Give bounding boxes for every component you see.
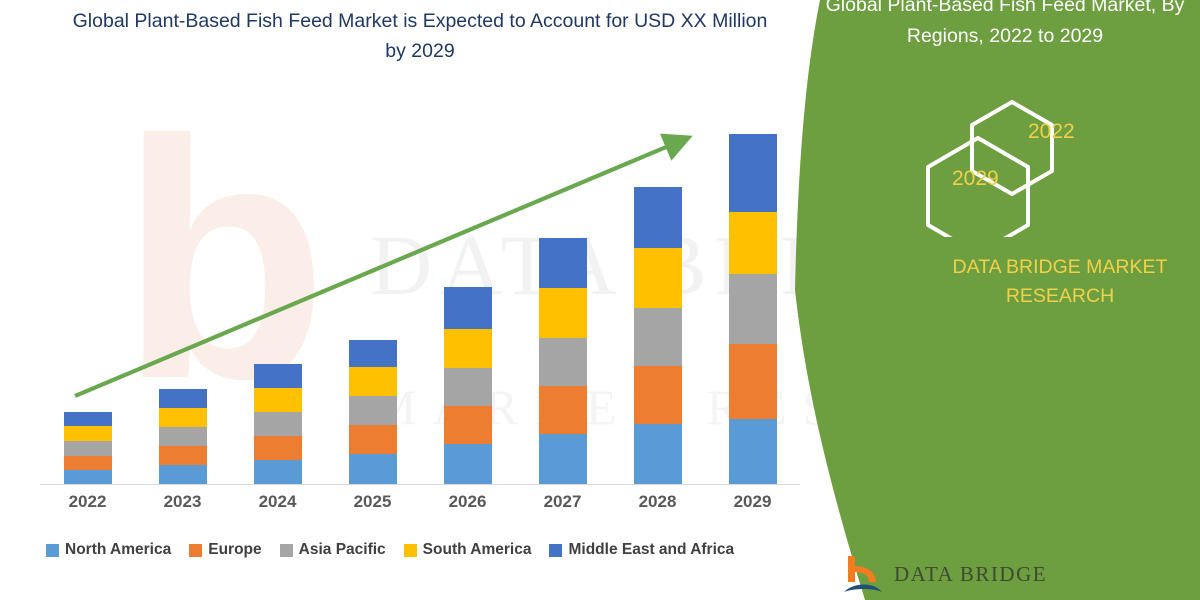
legend-item-north-america[interactable]: North America <box>46 541 171 559</box>
chart-legend: North AmericaEuropeAsia PacificSouth Ame… <box>46 541 734 559</box>
legend-label: Middle East and Africa <box>568 541 734 559</box>
bar-segment-south-america[interactable] <box>349 367 397 396</box>
bar-segment-north-america[interactable] <box>64 470 112 484</box>
bar-segment-middle-east-and-africa[interactable] <box>159 389 207 408</box>
bar-segment-north-america[interactable] <box>539 434 587 484</box>
legend-item-europe[interactable]: Europe <box>189 541 261 559</box>
bar-segment-south-america[interactable] <box>159 408 207 427</box>
bar-segment-middle-east-and-africa[interactable] <box>254 364 302 388</box>
bar-2028[interactable] <box>634 187 682 484</box>
footer-logo-text: DATA BRIDGE <box>894 562 1047 587</box>
bar-segment-north-america[interactable] <box>444 444 492 484</box>
bar-segment-middle-east-and-africa[interactable] <box>539 238 587 288</box>
x-axis-labels: 20222023202420252026202720282029 <box>40 492 800 518</box>
bar-segment-south-america[interactable] <box>634 248 682 308</box>
brand-line-1: DATA BRIDGE MARKET <box>930 253 1190 282</box>
bar-2023[interactable] <box>159 389 207 484</box>
panel-title: Global Plant-Based Fish Feed Market, By … <box>820 0 1190 52</box>
legend-item-asia-pacific[interactable]: Asia Pacific <box>280 541 386 559</box>
bar-segment-asia-pacific[interactable] <box>539 338 587 386</box>
bar-2027[interactable] <box>539 238 587 484</box>
legend-swatch-icon <box>46 544 59 557</box>
bar-segment-south-america[interactable] <box>64 426 112 441</box>
x-axis-label-2028: 2028 <box>613 492 703 512</box>
hexagon-2029-label: 2029 <box>952 167 999 191</box>
bar-segment-europe[interactable] <box>159 446 207 465</box>
legend-label: South America <box>423 541 532 559</box>
x-axis-label-2026: 2026 <box>423 492 513 512</box>
bar-segment-north-america[interactable] <box>254 460 302 484</box>
legend-item-middle-east-and-africa[interactable]: Middle East and Africa <box>549 541 734 559</box>
bar-segment-asia-pacific[interactable] <box>634 308 682 366</box>
bar-segment-asia-pacific[interactable] <box>254 412 302 436</box>
bar-segment-europe[interactable] <box>254 436 302 460</box>
bar-segment-europe[interactable] <box>539 386 587 434</box>
bar-segment-asia-pacific[interactable] <box>444 368 492 406</box>
bar-segment-middle-east-and-africa[interactable] <box>444 287 492 329</box>
bar-2022[interactable] <box>64 412 112 484</box>
x-axis-label-2027: 2027 <box>518 492 608 512</box>
bar-segment-middle-east-and-africa[interactable] <box>349 340 397 367</box>
bar-segment-asia-pacific[interactable] <box>349 396 397 425</box>
bar-segment-asia-pacific[interactable] <box>64 441 112 456</box>
bar-segment-south-america[interactable] <box>254 388 302 412</box>
bar-segment-europe[interactable] <box>444 406 492 444</box>
x-axis-label-2024: 2024 <box>233 492 323 512</box>
legend-label: North America <box>65 541 171 559</box>
chart-title: Global Plant-Based Fish Feed Market is E… <box>70 6 770 66</box>
footer-logo: DATA BRIDGE <box>840 552 1047 596</box>
legend-item-south-america[interactable]: South America <box>404 541 532 559</box>
bar-segment-asia-pacific[interactable] <box>159 427 207 446</box>
hexagon-badges: 2029 2022 <box>900 92 1190 237</box>
bar-segment-middle-east-and-africa[interactable] <box>64 412 112 426</box>
bar-segment-europe[interactable] <box>64 456 112 470</box>
bar-2025[interactable] <box>349 340 397 484</box>
legend-label: Europe <box>208 541 261 559</box>
data-bridge-b-icon <box>840 552 884 596</box>
legend-swatch-icon <box>280 544 293 557</box>
legend-swatch-icon <box>549 544 562 557</box>
hexagon-2022-label: 2022 <box>1028 120 1075 144</box>
bar-chart-plot-area <box>40 120 800 485</box>
bar-segment-middle-east-and-africa[interactable] <box>634 187 682 248</box>
bar-segment-north-america[interactable] <box>349 454 397 484</box>
x-axis-label-2023: 2023 <box>138 492 228 512</box>
x-axis-label-2025: 2025 <box>328 492 418 512</box>
brand-name: DATA BRIDGE MARKET RESEARCH <box>930 253 1190 311</box>
infographic-canvas: b DATA BRIDGE MARKET RESEARCH Global Pla… <box>0 0 1200 600</box>
bar-segment-north-america[interactable] <box>634 424 682 484</box>
legend-swatch-icon <box>404 544 417 557</box>
hexagon-outlines <box>900 92 1190 237</box>
bar-segment-south-america[interactable] <box>444 329 492 368</box>
legend-swatch-icon <box>189 544 202 557</box>
bar-segment-europe[interactable] <box>349 425 397 454</box>
bar-segment-europe[interactable] <box>634 366 682 424</box>
legend-label: Asia Pacific <box>299 541 386 559</box>
x-axis-label-2022: 2022 <box>43 492 133 512</box>
bar-segment-south-america[interactable] <box>539 288 587 338</box>
x-axis-line <box>40 484 800 485</box>
bar-2024[interactable] <box>254 364 302 484</box>
bar-2026[interactable] <box>444 287 492 484</box>
bar-segment-north-america[interactable] <box>159 465 207 484</box>
brand-line-2: RESEARCH <box>930 282 1190 311</box>
